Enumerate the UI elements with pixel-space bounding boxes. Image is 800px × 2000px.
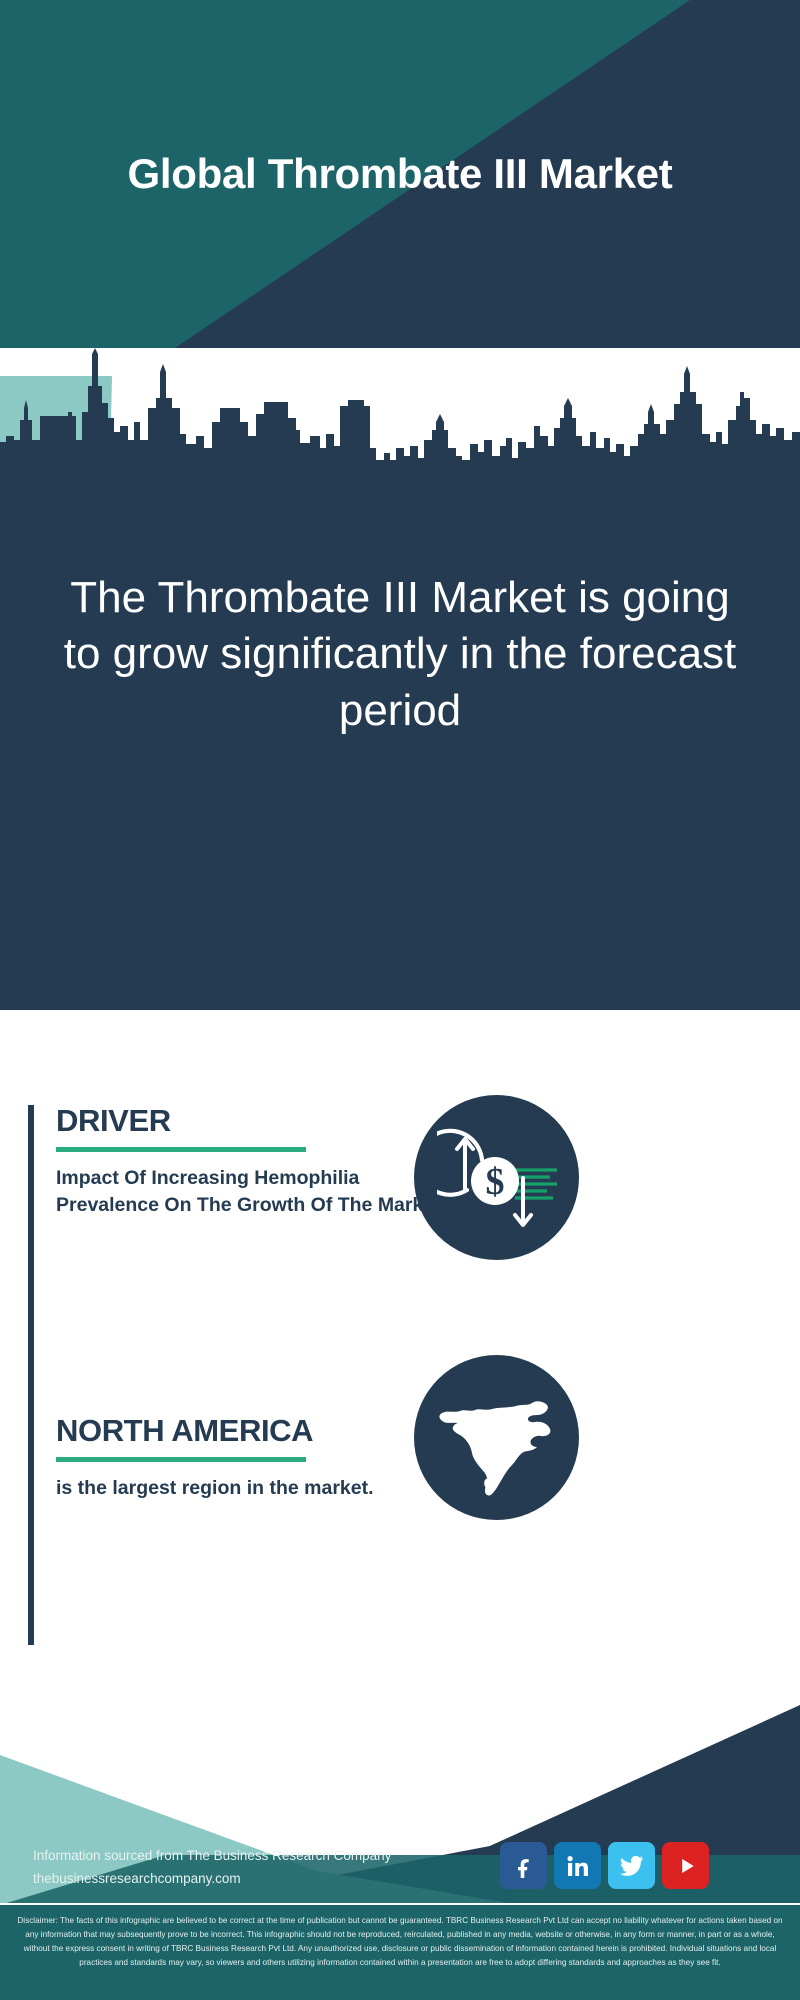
linkedin-icon[interactable] <box>554 1842 601 1889</box>
facebook-icon[interactable] <box>500 1842 547 1889</box>
fact-text-region: is the largest region in the market. <box>56 1475 456 1503</box>
facts-section: DRIVER Impact Of Increasing Hemophilia P… <box>0 1010 800 1650</box>
city-skyline-icon <box>0 348 800 468</box>
footer-website[interactable]: thebusinessresearchcompany.com <box>33 1868 433 1891</box>
skyline-band <box>0 348 800 468</box>
twitter-glyph <box>619 1853 644 1878</box>
youtube-icon[interactable] <box>662 1842 709 1889</box>
fact-body: DRIVER Impact Of Increasing Hemophilia P… <box>56 1105 456 1220</box>
fact-underline <box>56 1457 306 1462</box>
fact-block-driver: DRIVER Impact Of Increasing Hemophilia P… <box>28 1105 468 1415</box>
youtube-glyph <box>673 1853 699 1879</box>
svg-text:$: $ <box>485 1161 504 1203</box>
footer-source: Information sourced from The Business Re… <box>33 1845 433 1890</box>
fact-accent-bar <box>28 1105 34 1415</box>
social-links <box>500 1842 709 1889</box>
dollar-growth-glyph: $ <box>437 1118 557 1238</box>
north-america-map-glyph <box>432 1373 562 1503</box>
fact-title-driver: DRIVER <box>56 1105 456 1138</box>
north-america-map-icon <box>414 1355 579 1520</box>
fact-block-region: NORTH AMERICA is the largest region in t… <box>28 1415 468 1645</box>
fact-underline <box>56 1147 306 1152</box>
facebook-glyph <box>512 1854 536 1878</box>
fact-body: NORTH AMERICA is the largest region in t… <box>56 1415 456 1502</box>
disclaimer-text: Disclaimer: The facts of this infographi… <box>0 1905 800 2000</box>
linkedin-glyph <box>566 1854 590 1878</box>
fact-accent-bar <box>28 1415 34 1645</box>
twitter-icon[interactable] <box>608 1842 655 1889</box>
header-banner: Global Thrombate III Market <box>0 0 800 348</box>
hero-tagline: The Thrombate III Market is going to gro… <box>0 570 800 739</box>
page-title: Global Thrombate III Market <box>0 0 800 348</box>
fact-text-driver: Impact Of Increasing Hemophilia Prevalen… <box>56 1165 456 1220</box>
fact-title-region: NORTH AMERICA <box>56 1415 456 1448</box>
footer-source-line: Information sourced from The Business Re… <box>33 1845 433 1868</box>
dollar-growth-icon: $ <box>414 1095 579 1260</box>
